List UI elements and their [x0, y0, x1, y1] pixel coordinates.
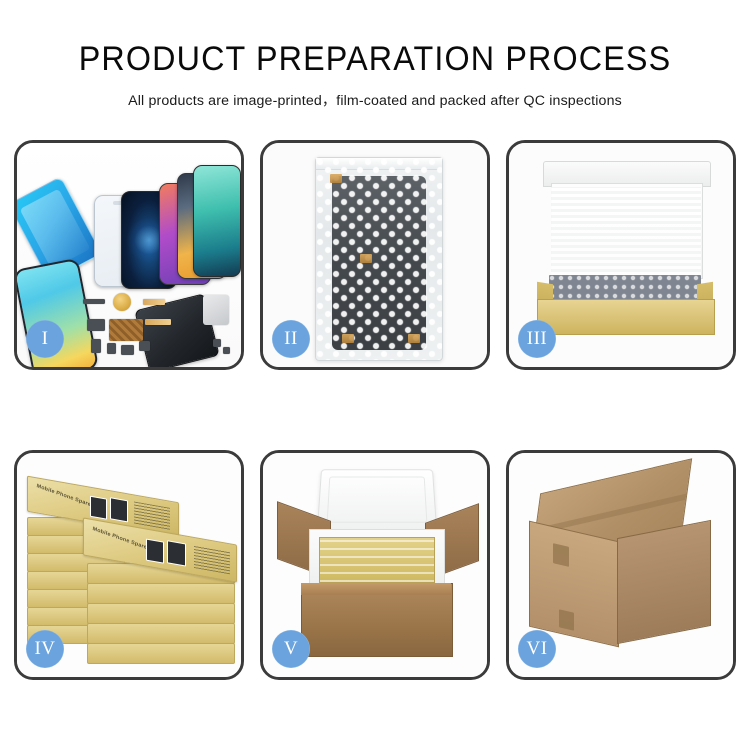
step-panel-1[interactable]: I — [14, 140, 244, 370]
step-panel-4[interactable]: Mobile Phone Spare Parts Mobile Phone Sp… — [14, 450, 244, 680]
white-foam-sheet — [551, 187, 701, 275]
box-window-front-1 — [146, 539, 164, 564]
stack-box-fr-2 — [87, 583, 235, 604]
box-window-back-2 — [110, 497, 128, 522]
box-front-wall — [537, 299, 715, 335]
part-vibrator — [139, 341, 150, 351]
carton-left-face — [529, 521, 619, 648]
bubble-texture — [316, 158, 442, 360]
part-screw-b — [223, 347, 230, 354]
carton-tape-left — [553, 543, 569, 567]
box-speclines-back — [134, 501, 170, 529]
foam-lid — [317, 469, 437, 531]
bag-tape-lower-right — [408, 334, 420, 343]
carton-tape-bottom — [559, 609, 574, 630]
packed-kraft-boxes — [319, 537, 435, 583]
box-window-front-2 — [167, 540, 186, 566]
part-logic-board — [109, 319, 143, 341]
carton-right-face — [617, 520, 711, 644]
part-screw-a — [213, 339, 221, 347]
step-badge-1: I — [26, 320, 64, 358]
part-camera-lens — [113, 293, 131, 311]
carton-top-edge — [301, 583, 451, 595]
stack-box-fr-5 — [87, 643, 235, 664]
part-flex-cable-b — [145, 319, 171, 325]
step-panel-6[interactable]: VI — [506, 450, 736, 680]
part-earpiece — [83, 299, 105, 304]
bag-tape-lower-left — [342, 334, 354, 343]
step-panel-2[interactable]: II — [260, 140, 490, 370]
step-panel-3[interactable]: III — [506, 140, 736, 370]
page-subtitle: All products are image-printed，film-coat… — [0, 90, 750, 110]
part-flex-cable-a — [143, 299, 165, 305]
step-badge-5: V — [272, 630, 310, 668]
part-bracket-a — [87, 319, 105, 331]
bubble-wrap-bag — [315, 157, 443, 361]
part-repair-tool — [203, 295, 229, 325]
infographic-page: PRODUCT PREPARATION PROCESS All products… — [0, 0, 750, 750]
bag-tape-mid — [360, 254, 372, 263]
part-button — [107, 343, 116, 354]
step-badge-3: III — [518, 320, 556, 358]
header: PRODUCT PREPARATION PROCESS All products… — [0, 0, 750, 110]
step-badge-2: II — [272, 320, 310, 358]
step-badge-6: VI — [518, 630, 556, 668]
stack-box-fr-3 — [87, 603, 235, 624]
box-speclines-front — [194, 545, 230, 574]
part-sim-tray — [91, 339, 101, 353]
page-title: PRODUCT PREPARATION PROCESS — [19, 42, 732, 76]
step-badge-4: IV — [26, 630, 64, 668]
stack-box-fr-4 — [87, 623, 235, 644]
phone-display-teal — [193, 165, 241, 277]
box-window-back-1 — [90, 496, 107, 520]
bag-tape-top — [330, 174, 342, 183]
step-panel-5[interactable]: V — [260, 450, 490, 680]
process-step-grid: I II — [14, 140, 736, 680]
part-speaker — [121, 345, 134, 355]
